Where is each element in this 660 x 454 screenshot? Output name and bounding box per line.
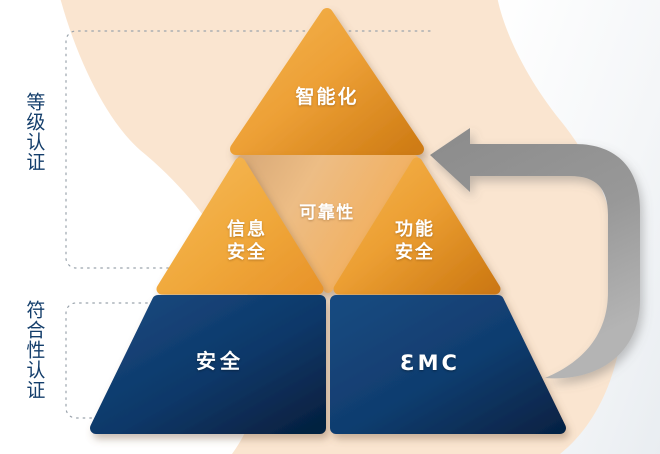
side-label-compliance-certification: 符合性认证 (24, 300, 43, 400)
block-label-intelligence: 智能化 (262, 86, 392, 110)
block-label-reliability: 可靠性 (272, 202, 382, 224)
block-label-safety: 安全 (160, 350, 280, 376)
side-label-grade-certification: 等级认证 (24, 92, 43, 172)
block-label-information-security: 信息 安全 (192, 218, 302, 264)
labels-layer: 等级认证 符合性认证 智能化 可靠性 信息 安全 功能 安全 安全 ƐMC (0, 0, 660, 454)
diagram-canvas: 等级认证 符合性认证 智能化 可靠性 信息 安全 功能 安全 安全 ƐMC (0, 0, 660, 454)
block-label-functional-safety: 功能 安全 (360, 218, 470, 264)
block-label-emc: ƐMC (370, 350, 490, 377)
